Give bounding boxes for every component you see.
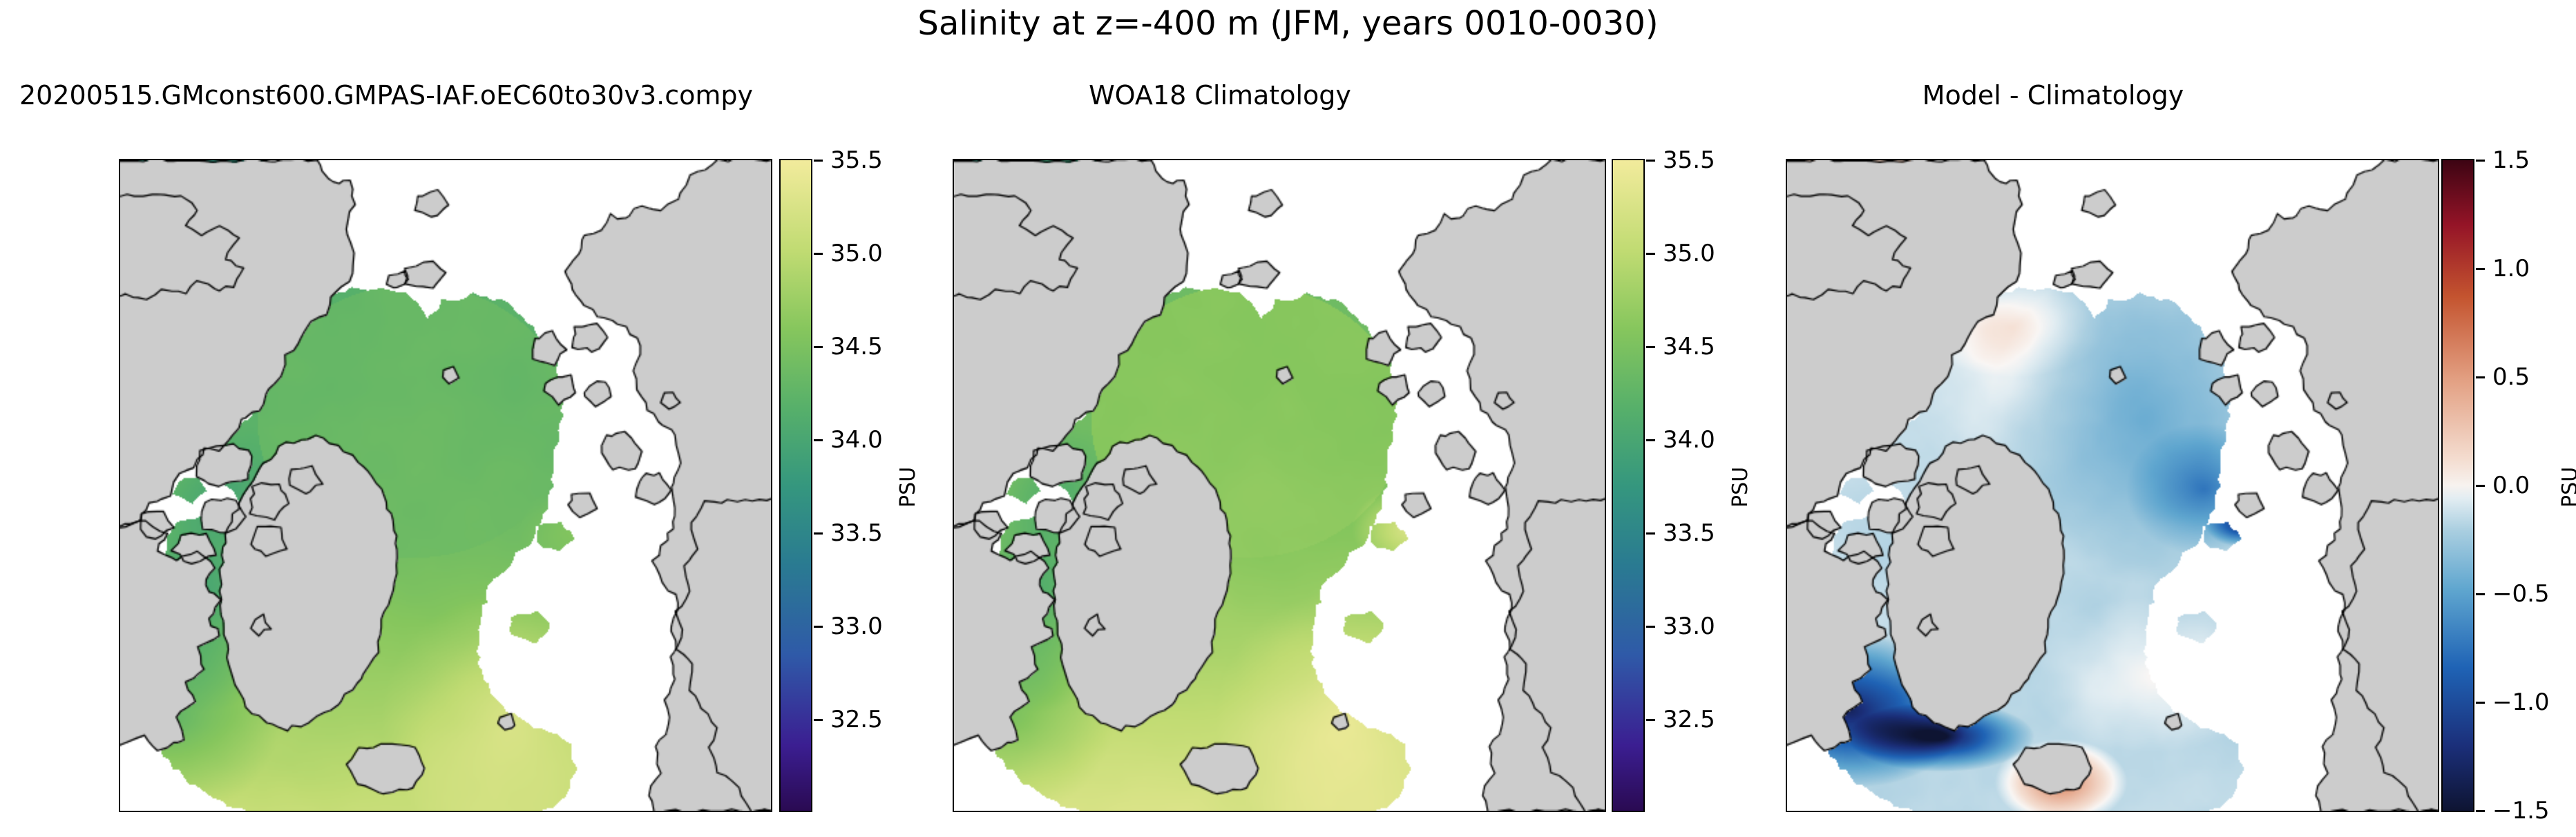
cb-tick-label: 34.5 bbox=[1663, 333, 1715, 360]
cb-tick-dash bbox=[1646, 532, 1655, 535]
panel-title-model: 20200515.GMconst600.GMPAS-IAF.oEC60to30v… bbox=[0, 80, 772, 110]
cb-tick-dash bbox=[2476, 160, 2485, 162]
colorbar-difference bbox=[2441, 159, 2474, 812]
figure-suptitle: Salinity at z=-400 m (JFM, years 0010-00… bbox=[0, 4, 2576, 43]
cb-tick-dash bbox=[1646, 626, 1655, 628]
cb-tick-label: 34.0 bbox=[1663, 426, 1715, 454]
cb-tick-label: 0.5 bbox=[2492, 363, 2530, 391]
cb-tick-label: 1.0 bbox=[2492, 255, 2530, 282]
cb-tick-label: −1.0 bbox=[2492, 689, 2550, 716]
cb-tick-label: 35.5 bbox=[1663, 146, 1715, 174]
cb-tick-label: −0.5 bbox=[2492, 580, 2550, 608]
cb-tick-dash bbox=[2476, 268, 2485, 270]
cb-tick-label: 0.0 bbox=[2492, 472, 2530, 499]
colorbar-climatology bbox=[1612, 159, 1645, 812]
colorbar-unit-difference: PSU bbox=[2558, 467, 2576, 508]
cb-tick-label: 33.0 bbox=[1663, 613, 1715, 640]
cb-tick-label: 34.5 bbox=[830, 333, 883, 360]
cb-tick-dash bbox=[814, 532, 823, 535]
cb-tick-label: 34.0 bbox=[830, 426, 883, 454]
colorbar-model bbox=[779, 159, 812, 812]
cb-tick-label: 33.5 bbox=[830, 519, 883, 547]
cb-tick-label: −1.5 bbox=[2492, 797, 2550, 825]
colorbar-gradient-model bbox=[781, 160, 811, 811]
cb-tick-dash bbox=[2476, 810, 2485, 812]
cb-tick-dash bbox=[2476, 485, 2485, 487]
cb-tick-dash bbox=[814, 346, 823, 348]
cb-tick-label: 32.5 bbox=[830, 706, 883, 733]
cb-tick-label: 35.0 bbox=[830, 240, 883, 267]
cb-tick-dash bbox=[814, 439, 823, 441]
cb-tick-dash bbox=[2476, 593, 2485, 595]
cb-tick-dash bbox=[1646, 719, 1655, 721]
cb-tick-dash bbox=[1646, 160, 1655, 162]
panel-title-difference: Model - Climatology bbox=[1667, 80, 2439, 110]
cb-tick-label: 35.5 bbox=[830, 146, 883, 174]
colorbar-gradient-difference bbox=[2443, 160, 2473, 811]
panel-title-climatology: WOA18 Climatology bbox=[834, 80, 1606, 110]
colorbar-unit-model: PSU bbox=[896, 467, 920, 508]
cb-tick-dash bbox=[1646, 346, 1655, 348]
cb-tick-dash bbox=[814, 719, 823, 721]
cb-tick-label: 1.5 bbox=[2492, 146, 2530, 174]
cb-tick-label: 33.0 bbox=[830, 613, 883, 640]
map-canvas-difference bbox=[1787, 160, 2438, 811]
map-axes-difference[interactable] bbox=[1786, 159, 2439, 812]
cb-tick-dash bbox=[814, 253, 823, 255]
map-canvas-model bbox=[120, 160, 771, 811]
map-axes-climatology[interactable] bbox=[953, 159, 1606, 812]
map-axes-model[interactable] bbox=[119, 159, 772, 812]
cb-tick-dash bbox=[1646, 439, 1655, 441]
cb-tick-dash bbox=[2476, 376, 2485, 378]
colorbar-unit-climatology: PSU bbox=[1728, 467, 1753, 508]
cb-tick-dash bbox=[1646, 253, 1655, 255]
cb-tick-dash bbox=[814, 160, 823, 162]
cb-tick-label: 33.5 bbox=[1663, 519, 1715, 547]
cb-tick-label: 32.5 bbox=[1663, 706, 1715, 733]
cb-tick-dash bbox=[2476, 702, 2485, 704]
cb-tick-label: 35.0 bbox=[1663, 240, 1715, 267]
figure-canvas: Salinity at z=-400 m (JFM, years 0010-00… bbox=[0, 0, 2576, 837]
map-canvas-climatology bbox=[954, 160, 1605, 811]
colorbar-gradient-climatology bbox=[1613, 160, 1643, 811]
cb-tick-dash bbox=[814, 626, 823, 628]
